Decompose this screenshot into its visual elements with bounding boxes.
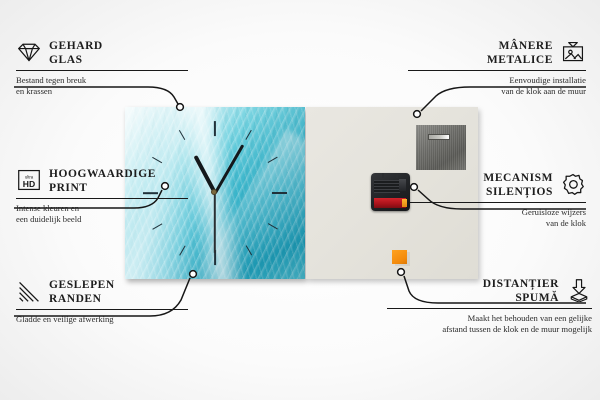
down-arrow-stack-icon: [566, 278, 592, 302]
callout-desc: Maakt het behouden van een gelijke afsta…: [387, 313, 592, 335]
hanger-slot: [428, 134, 450, 140]
callout-title: MÂNERE METALICE: [487, 40, 553, 67]
callout-desc: Gladde en veilige afwerking: [16, 314, 188, 325]
clock-tick: [272, 192, 287, 194]
clock-second-hand: [214, 193, 216, 253]
clock-tick: [214, 121, 216, 136]
callout-rule: [16, 70, 188, 71]
clock-mechanism-box: [371, 173, 410, 211]
callout-mecanism-silentios: MECANISM SILENȚIOS Geruisloze wijzers va…: [408, 172, 586, 229]
callout-desc: Bestand tegen breuk en krassen: [16, 75, 188, 97]
callout-title: DISTANȚIER SPUMĂ: [483, 278, 559, 305]
callout-title: GEHARD GLAS: [49, 40, 103, 67]
wall-frame-icon: [560, 40, 586, 64]
callout-desc: Intense kleuren en een duidelijk beeld: [16, 203, 188, 225]
callout-rule: [408, 202, 586, 203]
callout-gehard-glas: GEHARD GLAS Bestand tegen breuk en krass…: [16, 40, 188, 97]
callout-title: MECANISM SILENȚIOS: [483, 172, 553, 199]
callout-desc: Geruisloze wijzers van de klok: [408, 207, 586, 229]
ultra-hd-icon: ultra HD: [16, 168, 42, 192]
callout-rule: [16, 309, 188, 310]
svg-text:HD: HD: [23, 179, 35, 189]
callout-rule: [16, 198, 188, 199]
metal-hanger: [416, 125, 466, 170]
infographic-canvas: GEHARD GLAS Bestand tegen breuk en krass…: [0, 0, 600, 400]
foam-spacer: [392, 250, 407, 264]
callout-title: GESLEPEN RANDEN: [49, 279, 115, 306]
callout-manere-metalice: MÂNERE METALICE Eenvoudige installatie v…: [408, 40, 586, 97]
callout-rule: [408, 70, 586, 71]
battery-cap: [402, 199, 407, 207]
callout-hoogwaardige-print: ultra HD HOOGWAARDIGE PRINT Intense kleu…: [16, 168, 188, 225]
beveled-edge-icon: [16, 279, 42, 303]
mechanism-hook: [382, 173, 398, 178]
callout-geslepen-randen: GESLEPEN RANDEN Gladde en veilige afwerk…: [16, 279, 188, 325]
diamond-icon: [16, 40, 42, 64]
callout-title: HOOGWAARDIGE PRINT: [49, 168, 156, 195]
callout-desc: Eenvoudige installatie van de klok aan d…: [408, 75, 586, 97]
callout-distantier-spuma: DISTANȚIER SPUMĂ Maakt het behouden van …: [387, 278, 592, 335]
battery: [374, 198, 406, 208]
mechanism-knob: [399, 179, 406, 191]
callout-rule: [387, 308, 592, 309]
clock-center-cap: [211, 189, 217, 195]
gear-icon: [560, 172, 586, 196]
mechanism-ridges: [374, 180, 400, 193]
